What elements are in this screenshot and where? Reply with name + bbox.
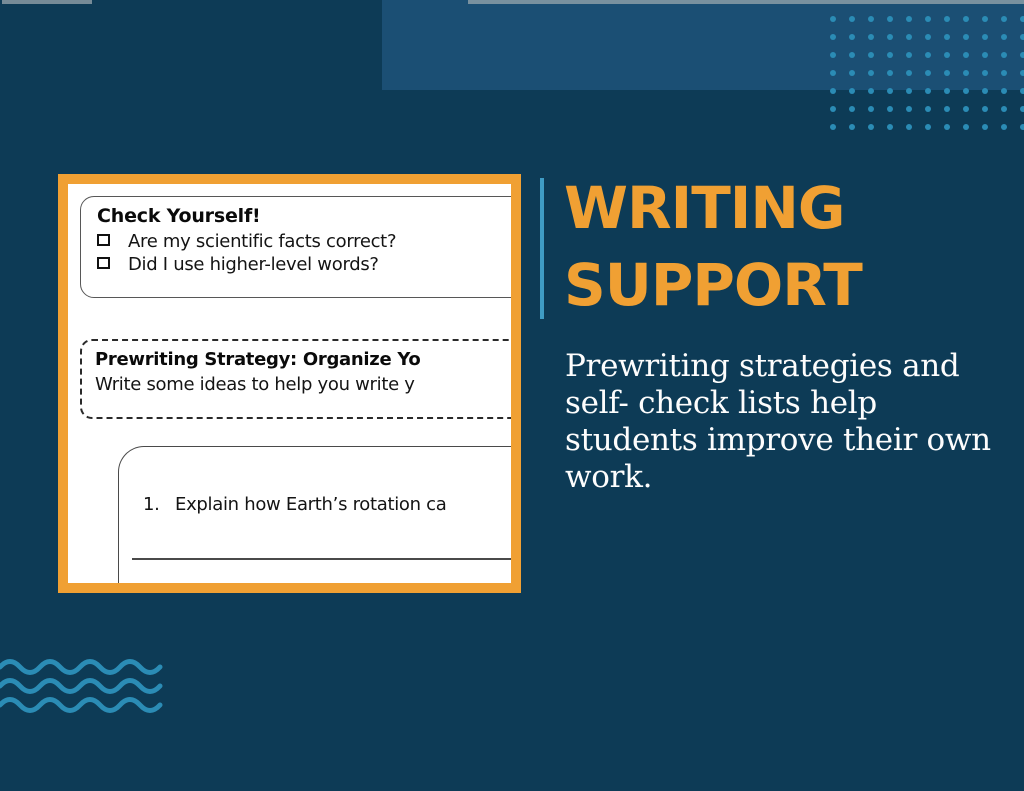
dot [944, 34, 950, 40]
dot [849, 16, 855, 22]
dot [925, 70, 931, 76]
dot [849, 124, 855, 130]
answer-rule-line [132, 558, 511, 560]
dot [887, 106, 893, 112]
dot-grid-decoration [830, 16, 1024, 130]
dot [944, 106, 950, 112]
dot [1001, 88, 1007, 94]
dot [887, 124, 893, 130]
prewriting-instruction: Write some ideas to help you write y [95, 374, 511, 395]
dot [887, 88, 893, 94]
dot [944, 16, 950, 22]
dot [849, 52, 855, 58]
dot [906, 70, 912, 76]
dot [849, 106, 855, 112]
dot [925, 88, 931, 94]
dot [1020, 70, 1024, 76]
dot [830, 34, 836, 40]
dot [925, 124, 931, 130]
dot [982, 106, 988, 112]
dot [982, 124, 988, 130]
dot [925, 106, 931, 112]
wave-line [0, 700, 160, 711]
dot [849, 88, 855, 94]
checkbox-icon [97, 257, 110, 269]
dot [982, 16, 988, 22]
dot [1001, 70, 1007, 76]
question-text: 1.Explain how Earth’s rotation ca [143, 494, 447, 515]
dot [830, 88, 836, 94]
dot [963, 52, 969, 58]
dot [830, 106, 836, 112]
title-line-1: WRITING [564, 170, 1014, 247]
dot [1001, 124, 1007, 130]
page-title: WRITING SUPPORT [564, 170, 1014, 324]
dot [868, 52, 874, 58]
worksheet-page: Check Yourself! Are my scientific facts … [68, 184, 511, 583]
dot [963, 70, 969, 76]
dot [906, 106, 912, 112]
dot [887, 70, 893, 76]
dot [830, 124, 836, 130]
title-line-2: SUPPORT [564, 247, 1014, 324]
dot [868, 70, 874, 76]
dot [1001, 106, 1007, 112]
check-list-item-label: Are my scientific facts correct? [128, 231, 396, 252]
dot [1020, 124, 1024, 130]
dot [1001, 52, 1007, 58]
dot [925, 34, 931, 40]
dot [868, 106, 874, 112]
dot [963, 16, 969, 22]
check-yourself-box: Check Yourself! Are my scientific facts … [80, 196, 511, 298]
wave-line [0, 662, 160, 673]
dot [1020, 106, 1024, 112]
wave-decoration [0, 655, 165, 717]
top-strip-left [2, 0, 92, 4]
dot [925, 52, 931, 58]
slide-canvas: Check Yourself! Are my scientific facts … [0, 0, 1024, 791]
dot [1001, 16, 1007, 22]
top-strip-right [468, 0, 1024, 4]
dot [830, 52, 836, 58]
dot [906, 34, 912, 40]
dot [887, 16, 893, 22]
dot [906, 124, 912, 130]
dot [982, 88, 988, 94]
dot [1020, 88, 1024, 94]
dot [963, 124, 969, 130]
dot [925, 16, 931, 22]
question-body: Explain how Earth’s rotation ca [175, 494, 447, 515]
prewriting-heading: Prewriting Strategy: Organize Yo [95, 349, 511, 370]
dot [887, 52, 893, 58]
dot [868, 88, 874, 94]
dot [963, 34, 969, 40]
check-list-item-label: Did I use higher-level words? [128, 254, 379, 275]
check-list-item: Did I use higher-level words? [97, 254, 511, 275]
dot [963, 106, 969, 112]
dot [944, 88, 950, 94]
dot [1020, 52, 1024, 58]
dot [1001, 34, 1007, 40]
dot [982, 34, 988, 40]
dot [887, 34, 893, 40]
dot [868, 16, 874, 22]
dot [868, 34, 874, 40]
dot [906, 16, 912, 22]
dot [982, 52, 988, 58]
dot [849, 34, 855, 40]
prewriting-strategy-box: Prewriting Strategy: Organize Yo Write s… [80, 339, 511, 419]
dot [944, 124, 950, 130]
dot [906, 88, 912, 94]
title-accent-bar [540, 178, 544, 319]
dot [830, 16, 836, 22]
dot [982, 70, 988, 76]
dot [1020, 34, 1024, 40]
dot [849, 70, 855, 76]
dot [906, 52, 912, 58]
dot [944, 52, 950, 58]
worksheet-card: Check Yourself! Are my scientific facts … [58, 174, 521, 593]
dot [963, 88, 969, 94]
question-number: 1. [143, 494, 175, 515]
dot [830, 70, 836, 76]
page-subtitle: Prewriting strategies and self- check li… [565, 348, 1010, 496]
wave-line [0, 681, 160, 692]
dot [944, 70, 950, 76]
dot [1020, 16, 1024, 22]
check-yourself-heading: Check Yourself! [97, 204, 511, 229]
dot [868, 124, 874, 130]
check-list-item: Are my scientific facts correct? [97, 231, 511, 252]
checkbox-icon [97, 234, 110, 246]
